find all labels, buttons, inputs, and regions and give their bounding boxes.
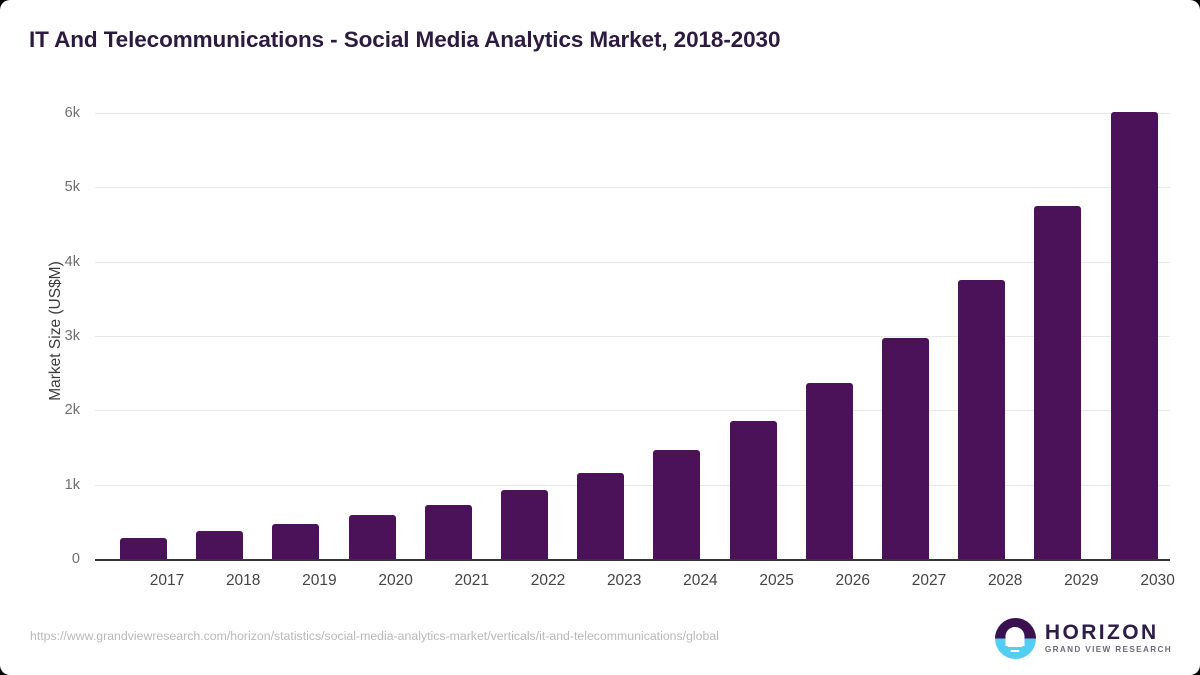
bar-rect[interactable] — [806, 383, 853, 559]
bar-2017[interactable] — [120, 538, 167, 559]
logo-tagline: GRAND VIEW RESEARCH — [1045, 645, 1172, 655]
logo-wordmark: HORIZON — [1045, 622, 1172, 644]
y-tick-label: 5k — [10, 179, 80, 195]
bar-2022[interactable] — [501, 490, 548, 559]
sun-shape — [1006, 627, 1025, 646]
bar-2026[interactable] — [806, 383, 853, 559]
bar-rect[interactable] — [882, 338, 929, 560]
bar-rect[interactable] — [349, 515, 396, 559]
bar-rect[interactable] — [1111, 112, 1158, 559]
sun-ray-3 — [1011, 650, 1020, 652]
x-tick-label-2030: 2030 — [1113, 572, 1200, 590]
sun-ray-1 — [1006, 641, 1025, 643]
bar-rect[interactable] — [272, 524, 319, 559]
y-tick-label: 0 — [10, 551, 80, 567]
horizon-sun-icon — [995, 618, 1036, 659]
source-url[interactable]: https://www.grandviewresearch.com/horizo… — [30, 629, 719, 643]
bar-rect[interactable] — [120, 538, 167, 559]
bar-2025[interactable] — [730, 421, 777, 559]
y-tick-label: 3k — [10, 328, 80, 344]
horizon-logo[interactable]: HORIZON GRAND VIEW RESEARCH — [995, 617, 1172, 659]
logo-text: HORIZON GRAND VIEW RESEARCH — [1045, 622, 1172, 655]
bar-rect[interactable] — [577, 473, 624, 559]
y-tick-label: 1k — [10, 477, 80, 493]
bar-2023[interactable] — [577, 473, 624, 559]
y-tick-label: 6k — [10, 105, 80, 121]
sun-ray-2 — [1008, 645, 1023, 647]
bar-rect[interactable] — [196, 531, 243, 559]
bar-2018[interactable] — [196, 531, 243, 559]
bar-2029[interactable] — [1034, 206, 1081, 559]
bar-rect[interactable] — [501, 490, 548, 559]
bar-2028[interactable] — [958, 280, 1005, 559]
y-tick-label: 4k — [10, 254, 80, 270]
bar-2021[interactable] — [425, 505, 472, 559]
chart-page: IT And Telecommunications - Social Media… — [0, 0, 1200, 675]
bar-series — [95, 100, 1170, 560]
bar-rect[interactable] — [653, 450, 700, 559]
plot-area: 01k2k3k4k5k6k201720182019202020212022202… — [95, 100, 1170, 560]
bar-2027[interactable] — [882, 338, 929, 560]
y-tick-label: 2k — [10, 402, 80, 418]
page-title: IT And Telecommunications - Social Media… — [29, 27, 780, 53]
bar-rect[interactable] — [730, 421, 777, 559]
bar-2020[interactable] — [349, 515, 396, 559]
bar-2024[interactable] — [653, 450, 700, 559]
bar-rect[interactable] — [425, 505, 472, 559]
bar-rect[interactable] — [958, 280, 1005, 559]
bar-2030[interactable] — [1111, 112, 1158, 559]
bar-2019[interactable] — [272, 524, 319, 559]
bar-rect[interactable] — [1034, 206, 1081, 559]
